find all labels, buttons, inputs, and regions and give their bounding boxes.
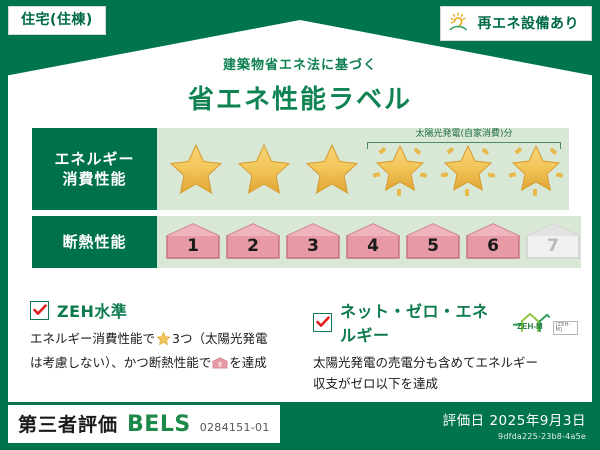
building-type-label: 住宅(住棟) (21, 12, 93, 28)
insulation-level-number: 2 (225, 222, 281, 262)
insulation-performance-row: 断熱性能 1 2 3 (32, 216, 568, 268)
document-hash: 9dfda225-23b8-4a5e (443, 432, 586, 441)
insulation-level-number: 7 (525, 222, 581, 262)
insulation-level-badge: 2 (225, 222, 281, 262)
criterion-net-zero-title: ネット・ゼロ・エネルギー (340, 298, 505, 346)
criterion-zeh-text-1: エネルギー消費性能で (30, 331, 155, 346)
insulation-level-scale: 1 2 3 4 5 (157, 222, 581, 262)
insulation-performance-body: 1 2 3 4 5 (157, 216, 581, 268)
energy-label-line2: 消費性能 (62, 169, 126, 189)
bels-certification-box: 第三者評価 BELS 0284151-01 (8, 405, 280, 443)
building-type-tag: 住宅(住棟) (8, 6, 106, 35)
star-icon-solar (435, 137, 501, 201)
evaluation-date-value: 2025年9月3日 (489, 413, 586, 429)
criterion-net-zero: ネット・ゼロ・エネルギー ZEH-M [ZEH-M] 太陽光発電の売電分も含めて… (313, 298, 578, 394)
renewable-badge-label: 再エネ設備あり (478, 17, 580, 31)
criterion-net-zero-line-2: 収支がゼロ以下を達成 (313, 376, 438, 391)
criterion-zeh-text-2: は考慮しない）、かつ断熱性能で (30, 355, 211, 370)
insulation-level-number: 6 (465, 222, 521, 262)
star-icon-solar (367, 137, 433, 201)
star-icon-solar (503, 137, 569, 201)
insulation-level-badge: 3 (285, 222, 341, 262)
evaluation-date-label: 評価日 (443, 413, 485, 429)
energy-performance-label: エネルギー 消費性能 (32, 128, 157, 210)
energy-label-line1: エネルギー (54, 149, 134, 169)
zeh-m-logo-caption: [ZEH-M] (553, 321, 579, 335)
footer: 第三者評価 BELS 0284151-01 評価日 2025年9月3日 9dfd… (0, 402, 600, 450)
energy-performance-row: エネルギー 消費性能 太陽光発電(自家消費)分 (32, 128, 568, 210)
criterion-net-zero-body: 太陽光発電の売電分も含めてエネルギー 収支がゼロ以下を達成 (313, 353, 578, 394)
criterion-zeh-header: ZEH水準 (30, 298, 295, 322)
criterion-zeh: ZEH水準 エネルギー消費性能で3つ（太陽光発電 は考慮しない）、かつ断熱性能で… (30, 298, 295, 394)
check-icon (30, 301, 49, 320)
star-rating (157, 137, 569, 201)
svg-text:ZEH-M: ZEH-M (517, 322, 543, 331)
bels-logo-text: BELS (127, 412, 191, 437)
criterion-zeh-title: ZEH水準 (57, 298, 127, 322)
star-icon (299, 137, 365, 201)
energy-label-root: 住宅(住棟) 再エネ設備あり 建築物省エネ法に基づく 省エネ性能ラベル (0, 0, 600, 450)
criterion-zeh-body: エネルギー消費性能で3つ（太陽光発電 は考慮しない）、かつ断熱性能で5を達成 (30, 329, 295, 376)
check-icon (313, 313, 332, 332)
insulation-level-badge: 5 (405, 222, 461, 262)
title-subtitle: 建築物省エネ法に基づく (0, 54, 600, 73)
insulation-level-number: 5 (405, 222, 461, 262)
insulation-label-text: 断熱性能 (62, 232, 126, 252)
energy-performance-body: 太陽光発電(自家消費)分 (157, 128, 569, 210)
performance-rows: エネルギー 消費性能 太陽光発電(自家消費)分 (32, 128, 568, 274)
star-icon (231, 137, 297, 201)
third-party-label: 第三者評価 (18, 410, 118, 437)
registration-number: 0284151-01 (200, 421, 270, 434)
inline-house-icon: 5 (212, 356, 228, 377)
insulation-level-number: 1 (165, 222, 221, 262)
insulation-level-badge: 6 (465, 222, 521, 262)
insulation-level-badge: 4 (345, 222, 401, 262)
zeh-m-logo: ZEH-M [ZEH-M] (513, 309, 578, 335)
inline-star-icon (156, 331, 171, 353)
insulation-performance-label: 断熱性能 (32, 216, 157, 268)
title-block: 建築物省エネ法に基づく 省エネ性能ラベル (0, 54, 600, 116)
evaluation-date: 評価日 2025年9月3日 (443, 409, 586, 429)
svg-text:5: 5 (219, 361, 223, 368)
solar-sun-icon (449, 12, 471, 35)
criteria-section: ZEH水準 エネルギー消費性能で3つ（太陽光発電 は考慮しない）、かつ断熱性能で… (30, 298, 578, 394)
criterion-net-zero-line-1: 太陽光発電の売電分も含めてエネルギー (313, 355, 538, 370)
insulation-level-badge: 1 (165, 222, 221, 262)
title-main: 省エネ性能ラベル (0, 79, 600, 116)
evaluation-date-block: 評価日 2025年9月3日 9dfda225-23b8-4a5e (443, 409, 586, 441)
insulation-level-number: 4 (345, 222, 401, 262)
star-icon (163, 137, 229, 201)
insulation-level-number: 3 (285, 222, 341, 262)
renewable-equipment-badge: 再エネ設備あり (440, 6, 593, 41)
criterion-zeh-star-count: 3つ（太陽光発電 (172, 331, 267, 346)
criterion-net-zero-header: ネット・ゼロ・エネルギー ZEH-M [ZEH-M] (313, 298, 578, 346)
insulation-level-badge: 7 (525, 222, 581, 262)
criterion-zeh-text-3: を達成 (229, 355, 267, 370)
